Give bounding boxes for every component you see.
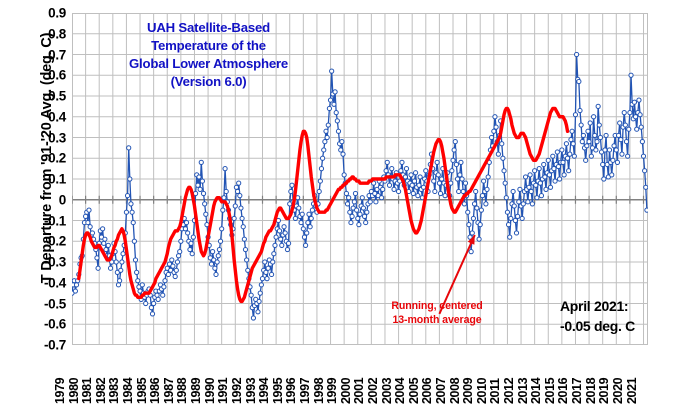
x-tick-label: 2016 [556,344,570,404]
x-tick-label: 2017 [570,344,584,404]
x-tick-label: 2001 [352,344,366,404]
x-axis-tick-labels: 1979198019811982198319841985198619871988… [0,345,700,404]
x-tick-label: 1991 [216,344,230,404]
y-tick-label: -0.6 [20,317,66,332]
x-tick-label: 1998 [312,344,326,404]
y-tick-label: 0.2 [20,151,66,166]
y-tick-label: 0.8 [20,26,66,41]
x-tick-label: 2011 [488,344,502,404]
chart-title-line-2: Global Lower Atmosphere [86,55,331,73]
x-tick-label: 2008 [448,344,462,404]
x-tick-label: 1995 [271,344,285,404]
x-tick-label: 1999 [325,344,339,404]
latest-value-label-line-1: -0.05 deg. C [560,316,700,336]
y-tick-label: -0.1 [20,213,66,228]
uah-temperature-chart: T Departure from '91-'20 Avg. (deg. C) 0… [0,0,700,404]
x-tick-label: 2013 [516,344,530,404]
x-tick-label: 1988 [175,344,189,404]
y-tick-label: -0.3 [20,255,66,270]
x-tick-label: 1990 [203,344,217,404]
x-tick-label: 2007 [434,344,448,404]
x-tick-label: 1997 [298,344,312,404]
y-tick-label: 0.1 [20,172,66,187]
x-tick-label: 2012 [502,344,516,404]
x-tick-label: 2014 [529,344,543,404]
x-tick-label: 1980 [67,344,81,404]
x-tick-label: 1987 [162,344,176,404]
y-tick-label: -0.4 [20,275,66,290]
x-tick-label: 1984 [121,344,135,404]
x-tick-label: 1985 [135,344,149,404]
running-avg-label-line-0: Running, centered [362,300,512,314]
x-tick-label: 2010 [475,344,489,404]
x-tick-label: 1982 [94,344,108,404]
x-tick-label: 2004 [393,344,407,404]
x-tick-label: 1979 [53,344,67,404]
y-tick-label: -0.5 [20,296,66,311]
running-average-annotation: Running, centered13-month average [362,300,512,328]
chart-title: UAH Satellite-BasedTemperature of theGlo… [86,19,331,91]
x-tick-label: 2018 [584,344,598,404]
chart-title-line-0: UAH Satellite-Based [86,19,331,37]
y-tick-label: 0.7 [20,47,66,62]
x-tick-label: 2003 [380,344,394,404]
x-tick-label: 2006 [420,344,434,404]
chart-title-line-1: Temperature of the [86,37,331,55]
x-tick-label: 1983 [107,344,121,404]
latest-value-label-line-0: April 2021: [560,296,700,316]
latest-value-annotation: April 2021:-0.05 deg. C [560,296,700,337]
y-tick-label: 0 [20,192,66,207]
x-tick-label: 1989 [189,344,203,404]
y-tick-label: 0.6 [20,68,66,83]
y-tick-label: 0.9 [20,6,66,21]
y-tick-label: 0.4 [20,109,66,124]
x-tick-label: 2020 [611,344,625,404]
x-tick-label: 2005 [407,344,421,404]
x-tick-label: 1993 [244,344,258,404]
x-tick-label: 2009 [461,344,475,404]
running-avg-label-line-1: 13-month average [362,314,512,328]
x-tick-label: 1992 [230,344,244,404]
x-tick-label: 2015 [543,344,557,404]
y-tick-label: 0.5 [20,89,66,104]
y-tick-label: -0.2 [20,234,66,249]
x-tick-label: 1994 [257,344,271,404]
x-tick-label: 2019 [597,344,611,404]
y-tick-label: 0.3 [20,130,66,145]
x-tick-label: 1986 [148,344,162,404]
monthly-anomaly-line [72,55,647,319]
x-tick-label: 2000 [339,344,353,404]
x-tick-label: 2021 [625,344,639,404]
chart-title-line-3: (Version 6.0) [86,73,331,91]
x-tick-label: 1996 [284,344,298,404]
x-tick-label: 1981 [80,344,94,404]
x-tick-label: 2002 [366,344,380,404]
